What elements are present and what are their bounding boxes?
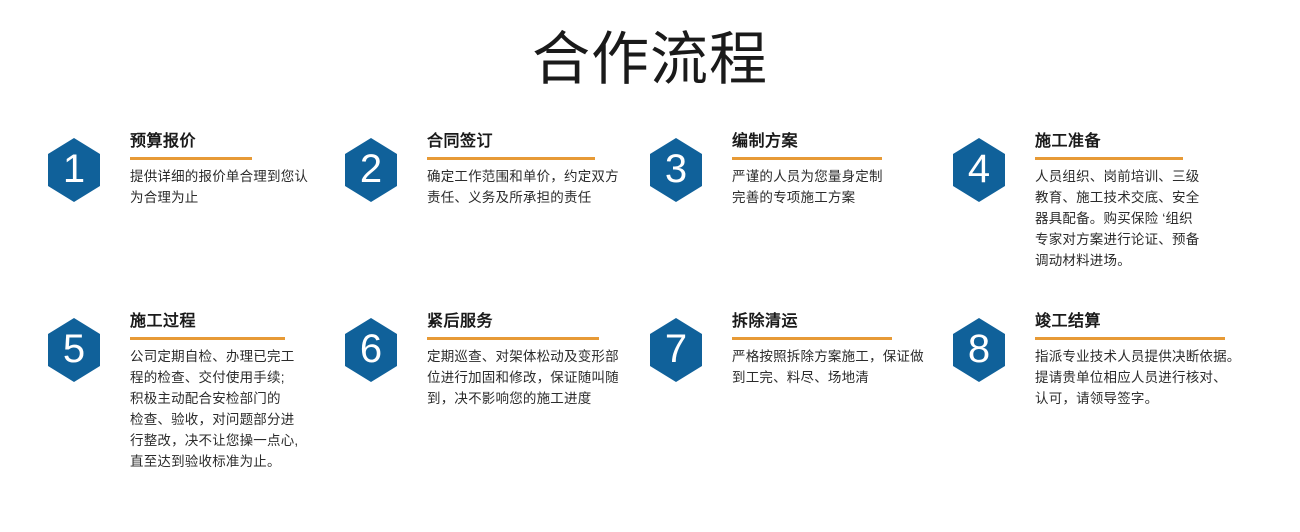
step-number-5: 5: [63, 329, 85, 369]
step-item-3: 3 编制方案 严谨的人员为您量身定制 完善的专项施工方案: [650, 130, 883, 208]
process-steps: 1 预算报价 提供详细的报价单合理到您认 为合理为止 2 合同签订 确定工作范围…: [0, 130, 1300, 510]
step-text-6: 紧后服务 定期巡查、对架体松动及变形部 位进行加固和修改，保证随叫随 到，决不影…: [427, 310, 619, 409]
step-number-6: 6: [360, 329, 382, 369]
hexagon-badge-8: 8: [953, 318, 1005, 382]
hexagon-badge-7: 7: [650, 318, 702, 382]
desc-line: 直至达到验收标准为止。: [130, 451, 298, 472]
step-text-5: 施工过程 公司定期自检、办理已完工 程的检查、交付使用手续; 积极主动配合安检部…: [130, 310, 298, 472]
accent-rule-8: [1035, 337, 1225, 340]
step-number-7: 7: [665, 329, 687, 369]
desc-line: 认可，请领导签字。: [1035, 388, 1241, 409]
step-number-4: 4: [968, 149, 990, 189]
desc-line: 严谨的人员为您量身定制: [732, 166, 883, 187]
desc-line: 为合理为止: [130, 187, 308, 208]
step-item-4: 4 施工准备 人员组织、岗前培训、三级 教育、施工技术交底、安全 器具配备。购买…: [953, 130, 1199, 271]
hexagon-badge-6: 6: [345, 318, 397, 382]
desc-line: 程的检查、交付使用手续;: [130, 367, 298, 388]
step-title-1: 预算报价: [130, 132, 308, 152]
hexagon-badge-3: 3: [650, 138, 702, 202]
desc-line: 提请贵单位相应人员进行核对、: [1035, 367, 1241, 388]
step-number-3: 3: [665, 149, 687, 189]
desc-line: 提供详细的报价单合理到您认: [130, 166, 308, 187]
page-title: 合作流程: [0, 24, 1300, 96]
accent-rule-5: [130, 337, 285, 340]
accent-rule-1: [130, 157, 252, 160]
step-text-4: 施工准备 人员组织、岗前培训、三级 教育、施工技术交底、安全 器具配备。购买保险…: [1035, 130, 1199, 271]
step-title-2: 合同签订: [427, 132, 619, 152]
accent-rule-6: [427, 337, 599, 340]
desc-line: 积极主动配合安检部门的: [130, 388, 298, 409]
step-text-3: 编制方案 严谨的人员为您量身定制 完善的专项施工方案: [732, 130, 883, 208]
step-title-5: 施工过程: [130, 312, 298, 332]
step-text-1: 预算报价 提供详细的报价单合理到您认 为合理为止: [130, 130, 308, 208]
step-description-7: 严格按照拆除方案施工，保证做 到工完、料尽、场地清: [732, 346, 924, 388]
accent-rule-4: [1035, 157, 1183, 160]
step-text-8: 竣工结算 指派专业技术人员提供决断依据。 提请贵单位相应人员进行核对、 认可，请…: [1035, 310, 1241, 409]
hexagon-badge-2: 2: [345, 138, 397, 202]
desc-line: 完善的专项施工方案: [732, 187, 883, 208]
hexagon-badge-5: 5: [48, 318, 100, 382]
accent-rule-3: [732, 157, 882, 160]
desc-line: 调动材料进场。: [1035, 250, 1199, 271]
desc-line: 确定工作范围和单价，约定双方: [427, 166, 619, 187]
step-item-1: 1 预算报价 提供详细的报价单合理到您认 为合理为止: [48, 130, 308, 208]
step-title-6: 紧后服务: [427, 312, 619, 332]
step-title-3: 编制方案: [732, 132, 883, 152]
step-item-7: 7 拆除清运 严格按照拆除方案施工，保证做 到工完、料尽、场地清: [650, 310, 924, 388]
step-item-2: 2 合同签订 确定工作范围和单价，约定双方 责任、义务及所承担的责任: [345, 130, 619, 208]
step-text-2: 合同签订 确定工作范围和单价，约定双方 责任、义务及所承担的责任: [427, 130, 619, 208]
step-title-8: 竣工结算: [1035, 312, 1241, 332]
steps-row-1: 1 预算报价 提供详细的报价单合理到您认 为合理为止 2 合同签订 确定工作范围…: [0, 130, 1300, 310]
step-description-1: 提供详细的报价单合理到您认 为合理为止: [130, 166, 308, 208]
step-item-6: 6 紧后服务 定期巡查、对架体松动及变形部 位进行加固和修改，保证随叫随 到，决…: [345, 310, 619, 409]
hexagon-badge-1: 1: [48, 138, 100, 202]
hexagon-badge-4: 4: [953, 138, 1005, 202]
desc-line: 专家对方案进行论证、预备: [1035, 229, 1199, 250]
step-item-5: 5 施工过程 公司定期自检、办理已完工 程的检查、交付使用手续; 积极主动配合安…: [48, 310, 298, 472]
steps-row-2: 5 施工过程 公司定期自检、办理已完工 程的检查、交付使用手续; 积极主动配合安…: [0, 310, 1300, 510]
desc-line: 定期巡查、对架体松动及变形部: [427, 346, 619, 367]
desc-line: 公司定期自检、办理已完工: [130, 346, 298, 367]
step-description-2: 确定工作范围和单价，约定双方 责任、义务及所承担的责任: [427, 166, 619, 208]
desc-line: 器具配备。购买保险 ‘组织: [1035, 208, 1199, 229]
step-number-2: 2: [360, 149, 382, 189]
step-item-8: 8 竣工结算 指派专业技术人员提供决断依据。 提请贵单位相应人员进行核对、 认可…: [953, 310, 1241, 409]
desc-line: 指派专业技术人员提供决断依据。: [1035, 346, 1241, 367]
desc-line: 行整改，决不让您操一点心,: [130, 430, 298, 451]
desc-line: 检查、验收，对问题部分进: [130, 409, 298, 430]
accent-rule-7: [732, 337, 892, 340]
step-text-7: 拆除清运 严格按照拆除方案施工，保证做 到工完、料尽、场地清: [732, 310, 924, 388]
step-number-1: 1: [63, 149, 85, 189]
step-description-6: 定期巡查、对架体松动及变形部 位进行加固和修改，保证随叫随 到，决不影响您的施工…: [427, 346, 619, 409]
step-description-3: 严谨的人员为您量身定制 完善的专项施工方案: [732, 166, 883, 208]
accent-rule-2: [427, 157, 595, 160]
desc-line: 严格按照拆除方案施工，保证做: [732, 346, 924, 367]
step-title-7: 拆除清运: [732, 312, 924, 332]
desc-line: 到工完、料尽、场地清: [732, 367, 924, 388]
desc-line: 人员组织、岗前培训、三级: [1035, 166, 1199, 187]
step-number-8: 8: [968, 329, 990, 369]
desc-line: 教育、施工技术交底、安全: [1035, 187, 1199, 208]
desc-line: 责任、义务及所承担的责任: [427, 187, 619, 208]
desc-line: 到，决不影响您的施工进度: [427, 388, 619, 409]
step-description-8: 指派专业技术人员提供决断依据。 提请贵单位相应人员进行核对、 认可，请领导签字。: [1035, 346, 1241, 409]
step-title-4: 施工准备: [1035, 132, 1199, 152]
step-description-4: 人员组织、岗前培训、三级 教育、施工技术交底、安全 器具配备。购买保险 ‘组织 …: [1035, 166, 1199, 271]
desc-line: 位进行加固和修改，保证随叫随: [427, 367, 619, 388]
step-description-5: 公司定期自检、办理已完工 程的检查、交付使用手续; 积极主动配合安检部门的 检查…: [130, 346, 298, 472]
